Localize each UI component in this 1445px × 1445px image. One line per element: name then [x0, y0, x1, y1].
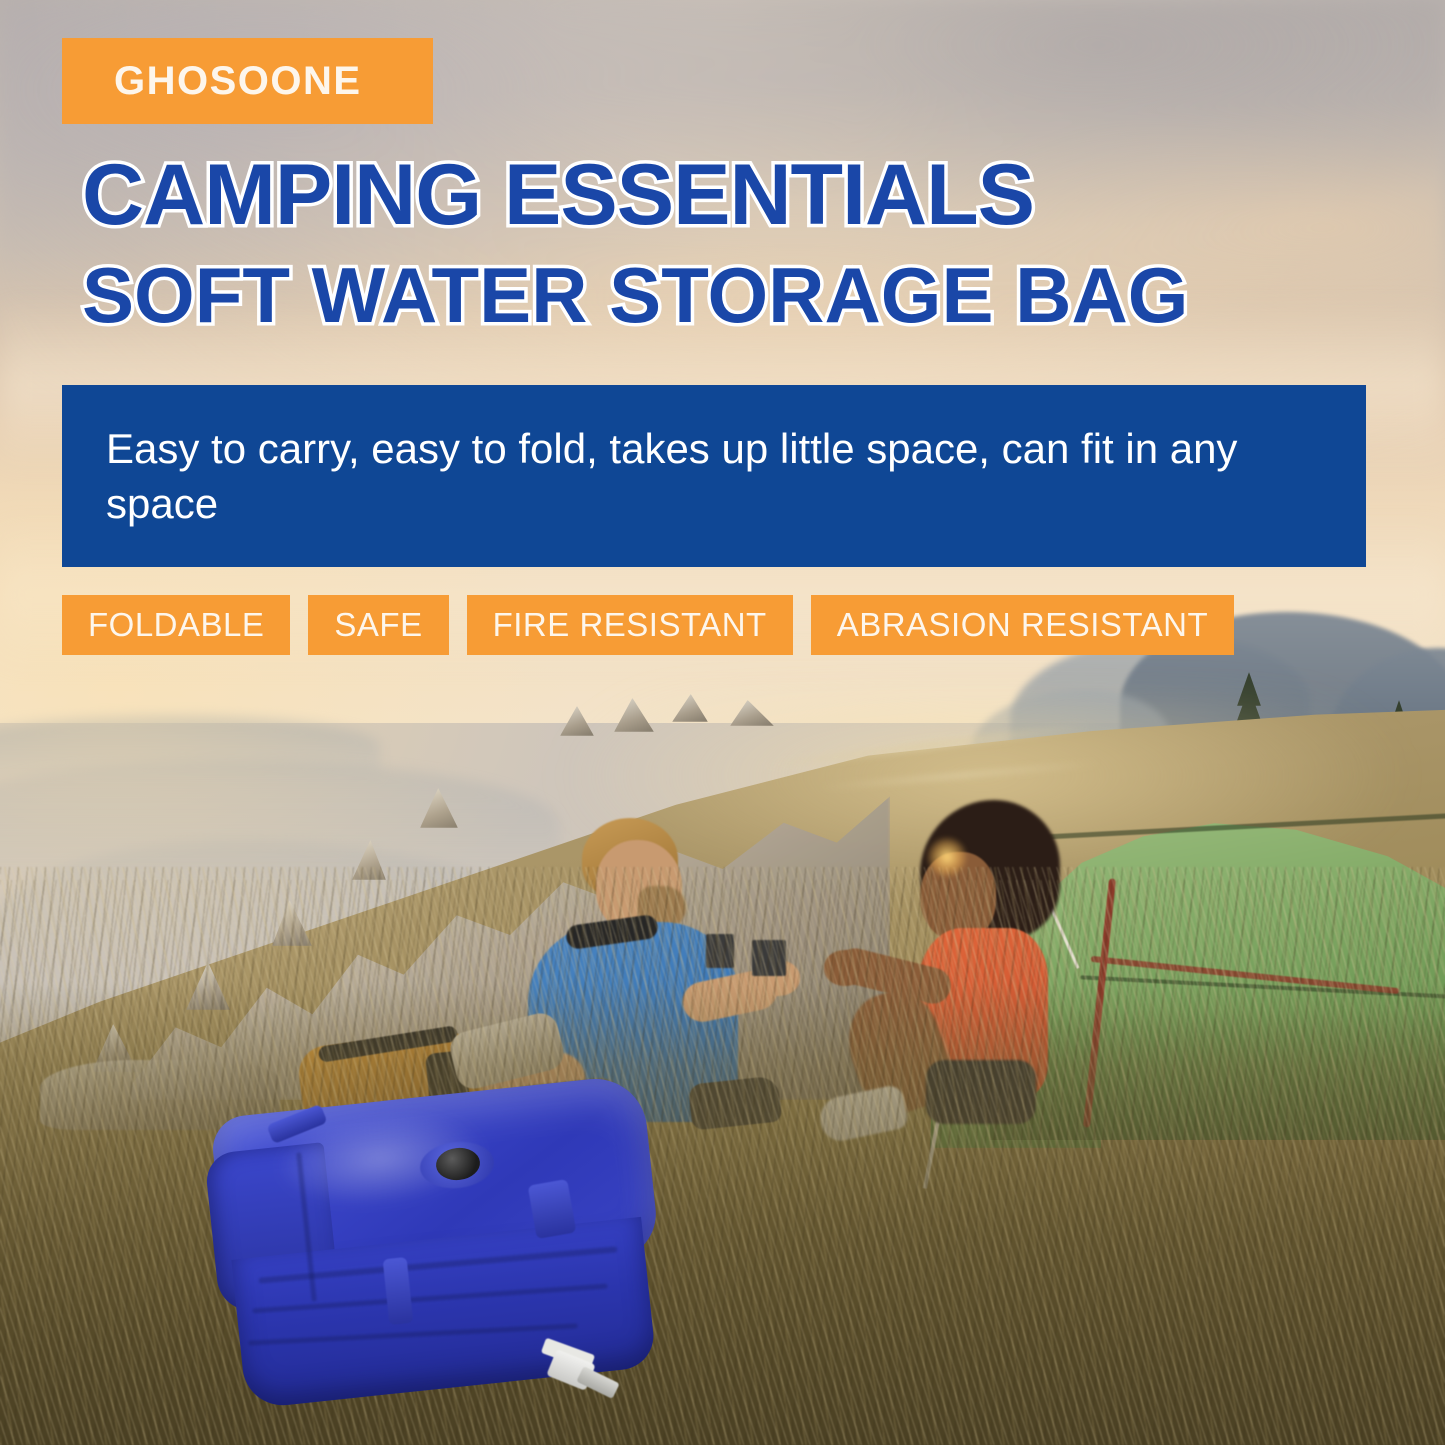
- brand-badge: GHOSOONE: [62, 38, 433, 124]
- water-storage-bag: [212, 1090, 672, 1420]
- description-banner: Easy to carry, easy to fold, takes up li…: [62, 385, 1366, 567]
- feature-tag-safe: SAFE: [308, 595, 448, 655]
- lens-flare: [926, 836, 968, 878]
- feature-tag-label: SAFE: [334, 606, 422, 644]
- feature-tag-foldable: FOLDABLE: [62, 595, 290, 655]
- brand-name: GHOSOONE: [114, 61, 362, 101]
- feature-tag-abrasion-resistant: ABRASION RESISTANT: [811, 595, 1234, 655]
- feature-tag-fire-resistant: FIRE RESISTANT: [467, 595, 793, 655]
- headline-line-1: CAMPING ESSENTIALS: [82, 152, 1034, 238]
- feature-tag-label: FIRE RESISTANT: [493, 606, 767, 644]
- feature-tag-label: ABRASION RESISTANT: [837, 606, 1208, 644]
- description-text: Easy to carry, easy to fold, takes up li…: [106, 421, 1322, 532]
- product-marketing-poster: GHOSOONE CAMPING ESSENTIALS SOFT WATER S…: [0, 0, 1445, 1445]
- headline-line-2: SOFT WATER STORAGE BAG: [82, 256, 1188, 334]
- feature-tag-label: FOLDABLE: [88, 606, 264, 644]
- feature-tag-list: FOLDABLE SAFE FIRE RESISTANT ABRASION RE…: [62, 595, 1234, 655]
